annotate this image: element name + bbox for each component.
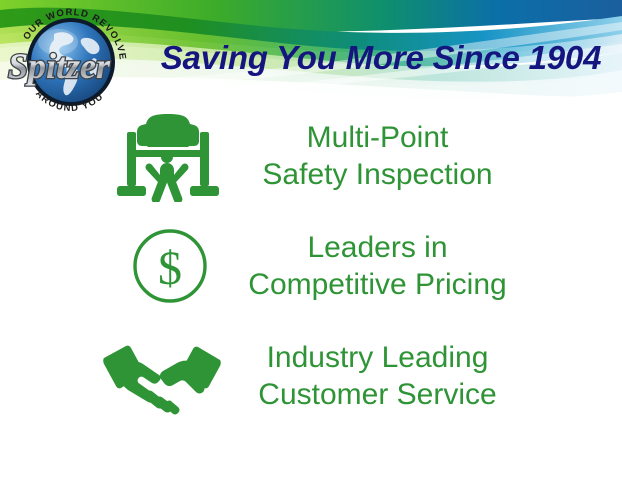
logo-wordmark: Spitzer <box>8 46 111 86</box>
feature-line: Leaders in <box>215 229 540 266</box>
page-title: Saving You More Since 1904 <box>146 39 616 77</box>
feature-line: Industry Leading <box>215 339 540 376</box>
feature-row-customer-service: Industry Leading Customer Service <box>85 326 540 426</box>
handshake-icon <box>97 336 227 416</box>
feature-text-customer-service: Industry Leading Customer Service <box>215 339 540 413</box>
feature-row-competitive-pricing: $ Leaders in Competitive Pricing <box>85 218 540 314</box>
feature-line: Competitive Pricing <box>215 266 540 303</box>
promotional-slide: OUR WORLD REVOLVES AROUND YOU Spitzer Sp… <box>0 0 622 483</box>
feature-row-safety-inspection: Multi-Point Safety Inspection <box>85 106 540 206</box>
car-lift-inspection-icon <box>103 110 233 202</box>
feature-text-competitive-pricing: Leaders in Competitive Pricing <box>215 229 540 303</box>
feature-line: Safety Inspection <box>215 156 540 193</box>
feature-line: Multi-Point <box>215 119 540 156</box>
feature-line: Customer Service <box>215 376 540 413</box>
dollar-circle-icon: $ <box>105 226 235 306</box>
brand-logo: OUR WORLD REVOLVES AROUND YOU Spitzer Sp… <box>6 4 136 120</box>
dollar-glyph: $ <box>158 242 182 295</box>
feature-text-safety-inspection: Multi-Point Safety Inspection <box>215 119 540 193</box>
